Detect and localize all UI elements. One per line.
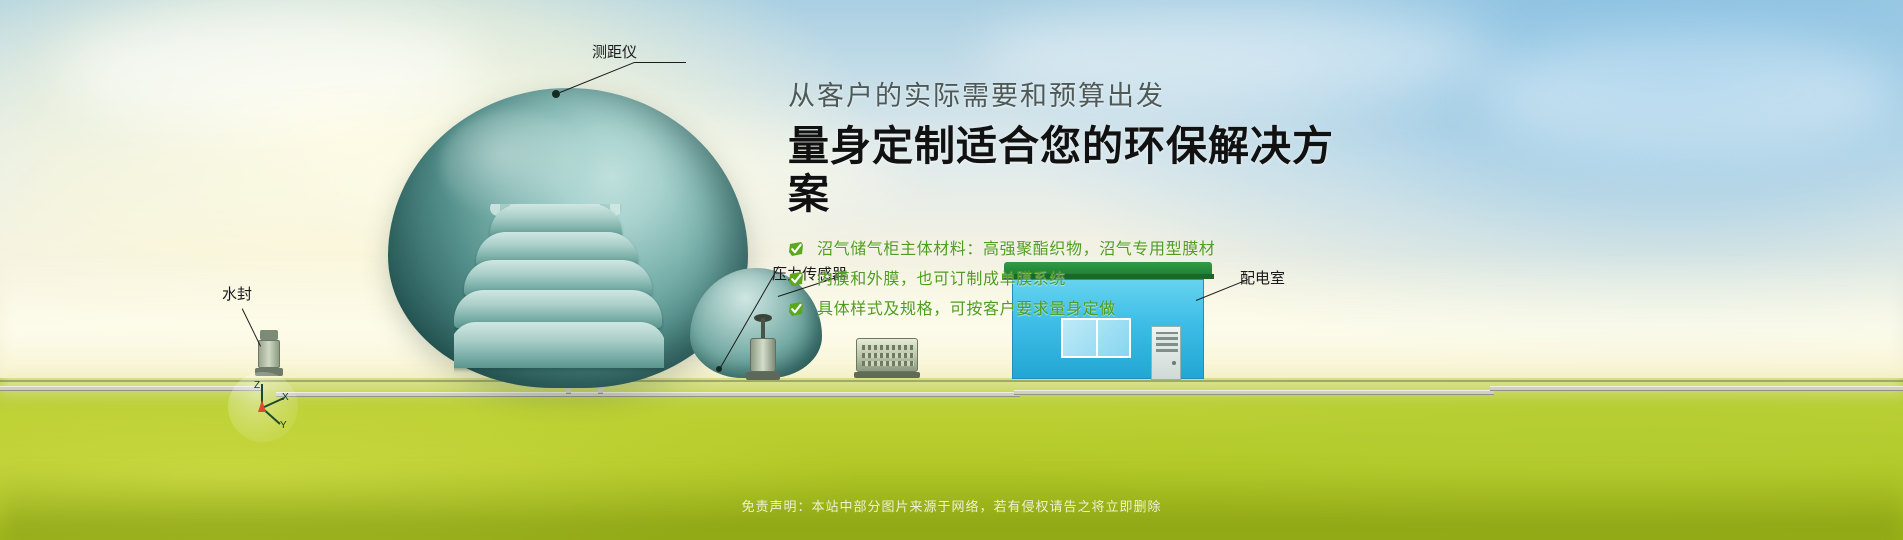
control-panel-cabinet (1151, 326, 1181, 380)
water-seal-body (258, 340, 280, 368)
feature-bullet-text: 具体样式及规格，可按客户要求量身定做 (817, 301, 1116, 317)
coordinate-axis-widget: Z X Y (228, 372, 298, 442)
axis-label-z: Z (254, 380, 260, 391)
blower-unit (856, 338, 918, 372)
rangefinder-leader-line (634, 62, 686, 63)
valve-base (746, 372, 780, 380)
footer-disclaimer: 免责声明：本站中部分图片来源于网络，若有侵权请告之将立即删除 (0, 496, 1903, 515)
feature-bullet-text: 内膜和外膜，也可订制成单膜系统 (817, 271, 1066, 287)
gas-pipe-segment (760, 392, 1020, 397)
feature-bullet-list: 沼气储气柜主体材料：高强聚酯织物，沼气专用型膜材 内膜和外膜，也可订制成单膜系统 (788, 241, 1348, 318)
callout-water-seal: 水封 (222, 287, 252, 302)
axis-label-x: X (282, 392, 289, 403)
check-badge-icon (788, 301, 805, 318)
feature-bullet-item: 具体样式及规格，可按客户要求量身定做 (788, 301, 1348, 318)
blower-vent (862, 361, 914, 366)
check-badge-icon (788, 241, 805, 258)
hero-headline: 量身定制适合您的环保解决方案 (788, 122, 1348, 219)
gas-pipe-segment (1014, 390, 1494, 395)
feature-bullet-item: 内膜和外膜，也可订制成单膜系统 (788, 271, 1348, 288)
water-seal-cap (260, 330, 278, 340)
valve-stem (761, 318, 765, 340)
cabinet-knob (1172, 361, 1176, 365)
inner-membrane-stack (454, 204, 664, 454)
check-badge-icon (788, 271, 805, 288)
blower-base (854, 372, 920, 378)
gas-pipe-segment (1490, 386, 1903, 391)
hero-banner: Z X Y 测距仪 水封 压力传感器 配电室 从客户的实际需要和预算出发 量身定… (0, 0, 1903, 540)
hero-text-panel: 从客户的实际需要和预算出发 量身定制适合您的环保解决方案 沼气储气柜主体材料：高… (788, 80, 1348, 331)
valve-body (750, 338, 776, 372)
blower-vent (862, 345, 914, 350)
feature-bullet-text: 沼气储气柜主体材料：高强聚酯织物，沼气专用型膜材 (817, 241, 1215, 257)
feature-bullet-item: 沼气储气柜主体材料：高强聚酯织物，沼气专用型膜材 (788, 241, 1348, 258)
membrane-tier (454, 322, 664, 368)
hero-kicker: 从客户的实际需要和预算出发 (788, 80, 1348, 114)
axis-label-y: Y (280, 420, 287, 431)
callout-rangefinder: 测距仪 (592, 45, 637, 60)
pressure-sensor-valve-unit (750, 318, 776, 384)
blower-vent (862, 353, 914, 358)
cabinet-grille (1156, 332, 1178, 352)
gas-pipe-segment (0, 386, 262, 391)
cloud-decoration (1480, 30, 1900, 160)
